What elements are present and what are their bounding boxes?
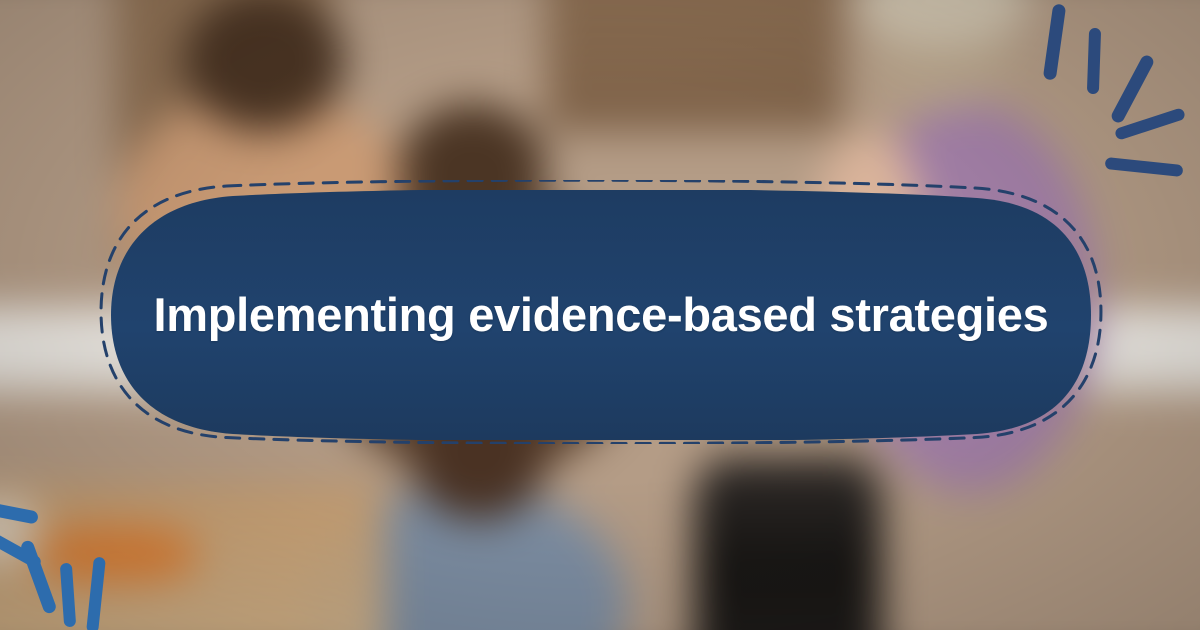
sparkle-dash-icon xyxy=(0,497,39,524)
title-banner-shape: Implementing evidence-based strategies xyxy=(105,190,1097,440)
sparkle-dash-icon xyxy=(60,563,76,628)
sparkle-dash-icon xyxy=(86,557,106,630)
sparkle-burst-bottom-left xyxy=(0,455,200,630)
sparkle-dash-icon xyxy=(1087,28,1101,94)
banner-title: Implementing evidence-based strategies xyxy=(154,288,1049,342)
sparkle-dash-icon xyxy=(1043,3,1066,80)
social-share-banner: Implementing evidence-based strategies xyxy=(0,0,1200,630)
sparkle-dash-icon xyxy=(1109,53,1155,124)
sparkle-dash-icon xyxy=(19,539,57,615)
sparkle-burst-top-right xyxy=(1020,0,1200,160)
